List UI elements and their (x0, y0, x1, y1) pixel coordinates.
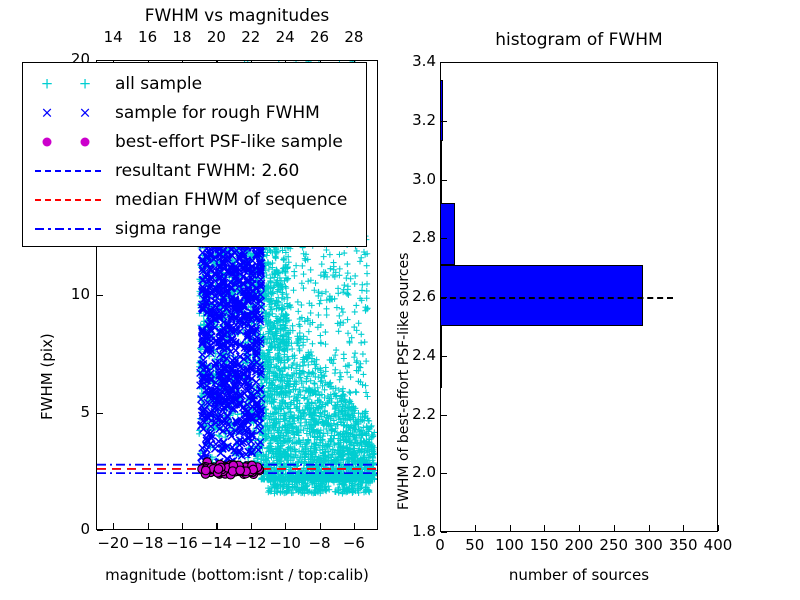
circle-marker-icon (43, 137, 52, 146)
tick-mark (544, 525, 545, 531)
legend-marker (23, 214, 115, 243)
tick-label: 3.4 (396, 52, 436, 70)
tick-mark (97, 413, 103, 414)
legend-item: sigma range (23, 214, 366, 243)
legend-marker: ++ (23, 69, 115, 98)
tick-mark (614, 525, 615, 531)
legend-label: all sample (115, 74, 202, 94)
tick-mark (251, 523, 252, 529)
tick-mark (441, 180, 447, 181)
tick-mark (441, 62, 447, 63)
left-yaxis-label: FWHM (pix) (38, 333, 56, 420)
tick-label: 0 (46, 520, 90, 538)
dashed-line-icon (35, 170, 101, 172)
tick-mark (649, 525, 650, 531)
left-xaxis-label: magnitude (bottom:isnt / top:calib) (96, 566, 378, 584)
dashed-line-icon (35, 199, 101, 201)
legend-box: ++all sample××sample for rough FWHMbest-… (22, 62, 367, 247)
legend-marker: ×× (23, 98, 115, 127)
legend-item: ++all sample (23, 69, 366, 98)
plus-marker-icon: + (79, 76, 92, 91)
tick-mark (683, 525, 684, 531)
cross-marker-icon: × (41, 105, 54, 120)
tick-mark (97, 60, 103, 61)
histogram-bar (440, 265, 643, 327)
tick-mark (97, 530, 103, 531)
tick-label: 10 (46, 285, 90, 303)
tick-mark (441, 297, 447, 298)
tick-label: 1.8 (396, 522, 436, 540)
histogram-bar (440, 203, 455, 265)
right-panel-title: histogram of FWHM (440, 30, 718, 50)
tick-mark (113, 523, 114, 529)
tick-mark (510, 525, 511, 531)
plus-marker-icon: + (41, 76, 54, 91)
legend-label: median FHWM of sequence (115, 190, 347, 210)
tick-mark (718, 525, 719, 531)
tick-mark (285, 523, 286, 529)
tick-mark (441, 121, 447, 122)
histogram-bar (440, 80, 443, 142)
tick-mark (216, 523, 217, 529)
tick-label: 400 (692, 536, 744, 554)
tick-mark (182, 523, 183, 529)
legend-label: resultant FWHM: 2.60 (115, 161, 299, 181)
tick-label: −6 (328, 534, 380, 552)
tick-mark (441, 356, 447, 357)
tick-mark (354, 523, 355, 529)
right-yaxis-label: FWHM of best-effort PSF-like sources (396, 253, 412, 510)
legend-item: median FHWM of sequence (23, 185, 366, 214)
tick-mark (441, 415, 447, 416)
tick-mark (475, 525, 476, 531)
figure-canvas: FWHM vs magnitudes 1416182022242628 −20−… (0, 0, 800, 600)
tick-label: 3.2 (396, 111, 436, 129)
cross-marker-icon: × (79, 105, 92, 120)
legend-item: resultant FWHM: 2.60 (23, 156, 366, 185)
tick-mark (441, 532, 447, 533)
dashdot-line-icon (35, 228, 101, 230)
legend-marker (23, 127, 115, 156)
tick-mark (441, 238, 447, 239)
tick-label: 28 (328, 28, 380, 46)
tick-label: 2.8 (396, 228, 436, 246)
histogram-bar (440, 141, 442, 203)
legend-marker (23, 156, 115, 185)
histogram-bar (440, 326, 442, 388)
legend-label: best-effort PSF-like sample (115, 132, 343, 152)
tick-mark (440, 525, 441, 531)
circle-marker-icon (81, 137, 90, 146)
tick-label: 3.0 (396, 170, 436, 188)
tick-mark (148, 523, 149, 529)
tick-mark (441, 473, 447, 474)
tick-mark (579, 525, 580, 531)
resultant-fwhm-line (440, 297, 673, 299)
legend-label: sample for rough FWHM (115, 103, 320, 123)
tick-mark (320, 523, 321, 529)
right-xaxis-label: number of sources (440, 566, 718, 584)
legend-item: ××sample for rough FWHM (23, 98, 366, 127)
legend-label: sigma range (115, 219, 221, 239)
legend-marker (23, 185, 115, 214)
tick-mark (97, 295, 103, 296)
legend-item: best-effort PSF-like sample (23, 127, 366, 156)
